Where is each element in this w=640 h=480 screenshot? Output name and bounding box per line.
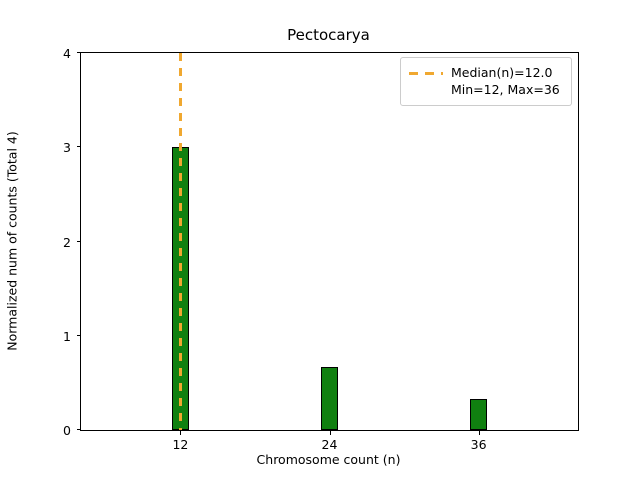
- y-tick-label-0: 0: [63, 423, 71, 438]
- y-tick-3: [77, 146, 82, 147]
- plot-area: 01234122436: [80, 52, 579, 431]
- bar-36: [470, 399, 487, 430]
- page-title: Pectocarya: [80, 26, 577, 44]
- x-axis-label: Chromosome count (n): [80, 452, 577, 467]
- legend-median-swatch: [409, 65, 443, 82]
- x-tick-36: [479, 430, 480, 435]
- x-tick-label-12: 12: [172, 437, 188, 452]
- x-tick-24: [330, 430, 331, 435]
- y-tick-label-2: 2: [63, 235, 71, 250]
- x-tick-12: [180, 430, 181, 435]
- y-tick-0: [77, 429, 82, 430]
- y-tick-1: [77, 335, 82, 336]
- legend-label-group: Median(n)=12.0 Min=12, Max=36: [451, 64, 560, 98]
- y-axis-label: Normalized num of counts (Total 4): [5, 131, 20, 351]
- dashed-line-icon: [409, 72, 443, 75]
- legend-label-minmax: Min=12, Max=36: [451, 81, 560, 98]
- x-tick-label-36: 36: [471, 437, 487, 452]
- legend-label-median: Median(n)=12.0: [451, 65, 552, 80]
- y-axis-label-container: Normalized num of counts (Total 4): [0, 52, 24, 429]
- y-tick-label-3: 3: [63, 140, 71, 155]
- bar-24: [321, 367, 338, 430]
- y-tick-label-1: 1: [63, 329, 71, 344]
- x-tick-label-24: 24: [322, 437, 338, 452]
- y-tick-label-4: 4: [63, 46, 71, 61]
- legend[interactable]: Median(n)=12.0 Min=12, Max=36: [400, 57, 572, 106]
- y-tick-4: [77, 52, 82, 53]
- y-tick-2: [77, 241, 82, 242]
- matplotlib-figure: Pectocarya Normalized num of counts (Tot…: [0, 0, 640, 480]
- median-line: [179, 53, 182, 430]
